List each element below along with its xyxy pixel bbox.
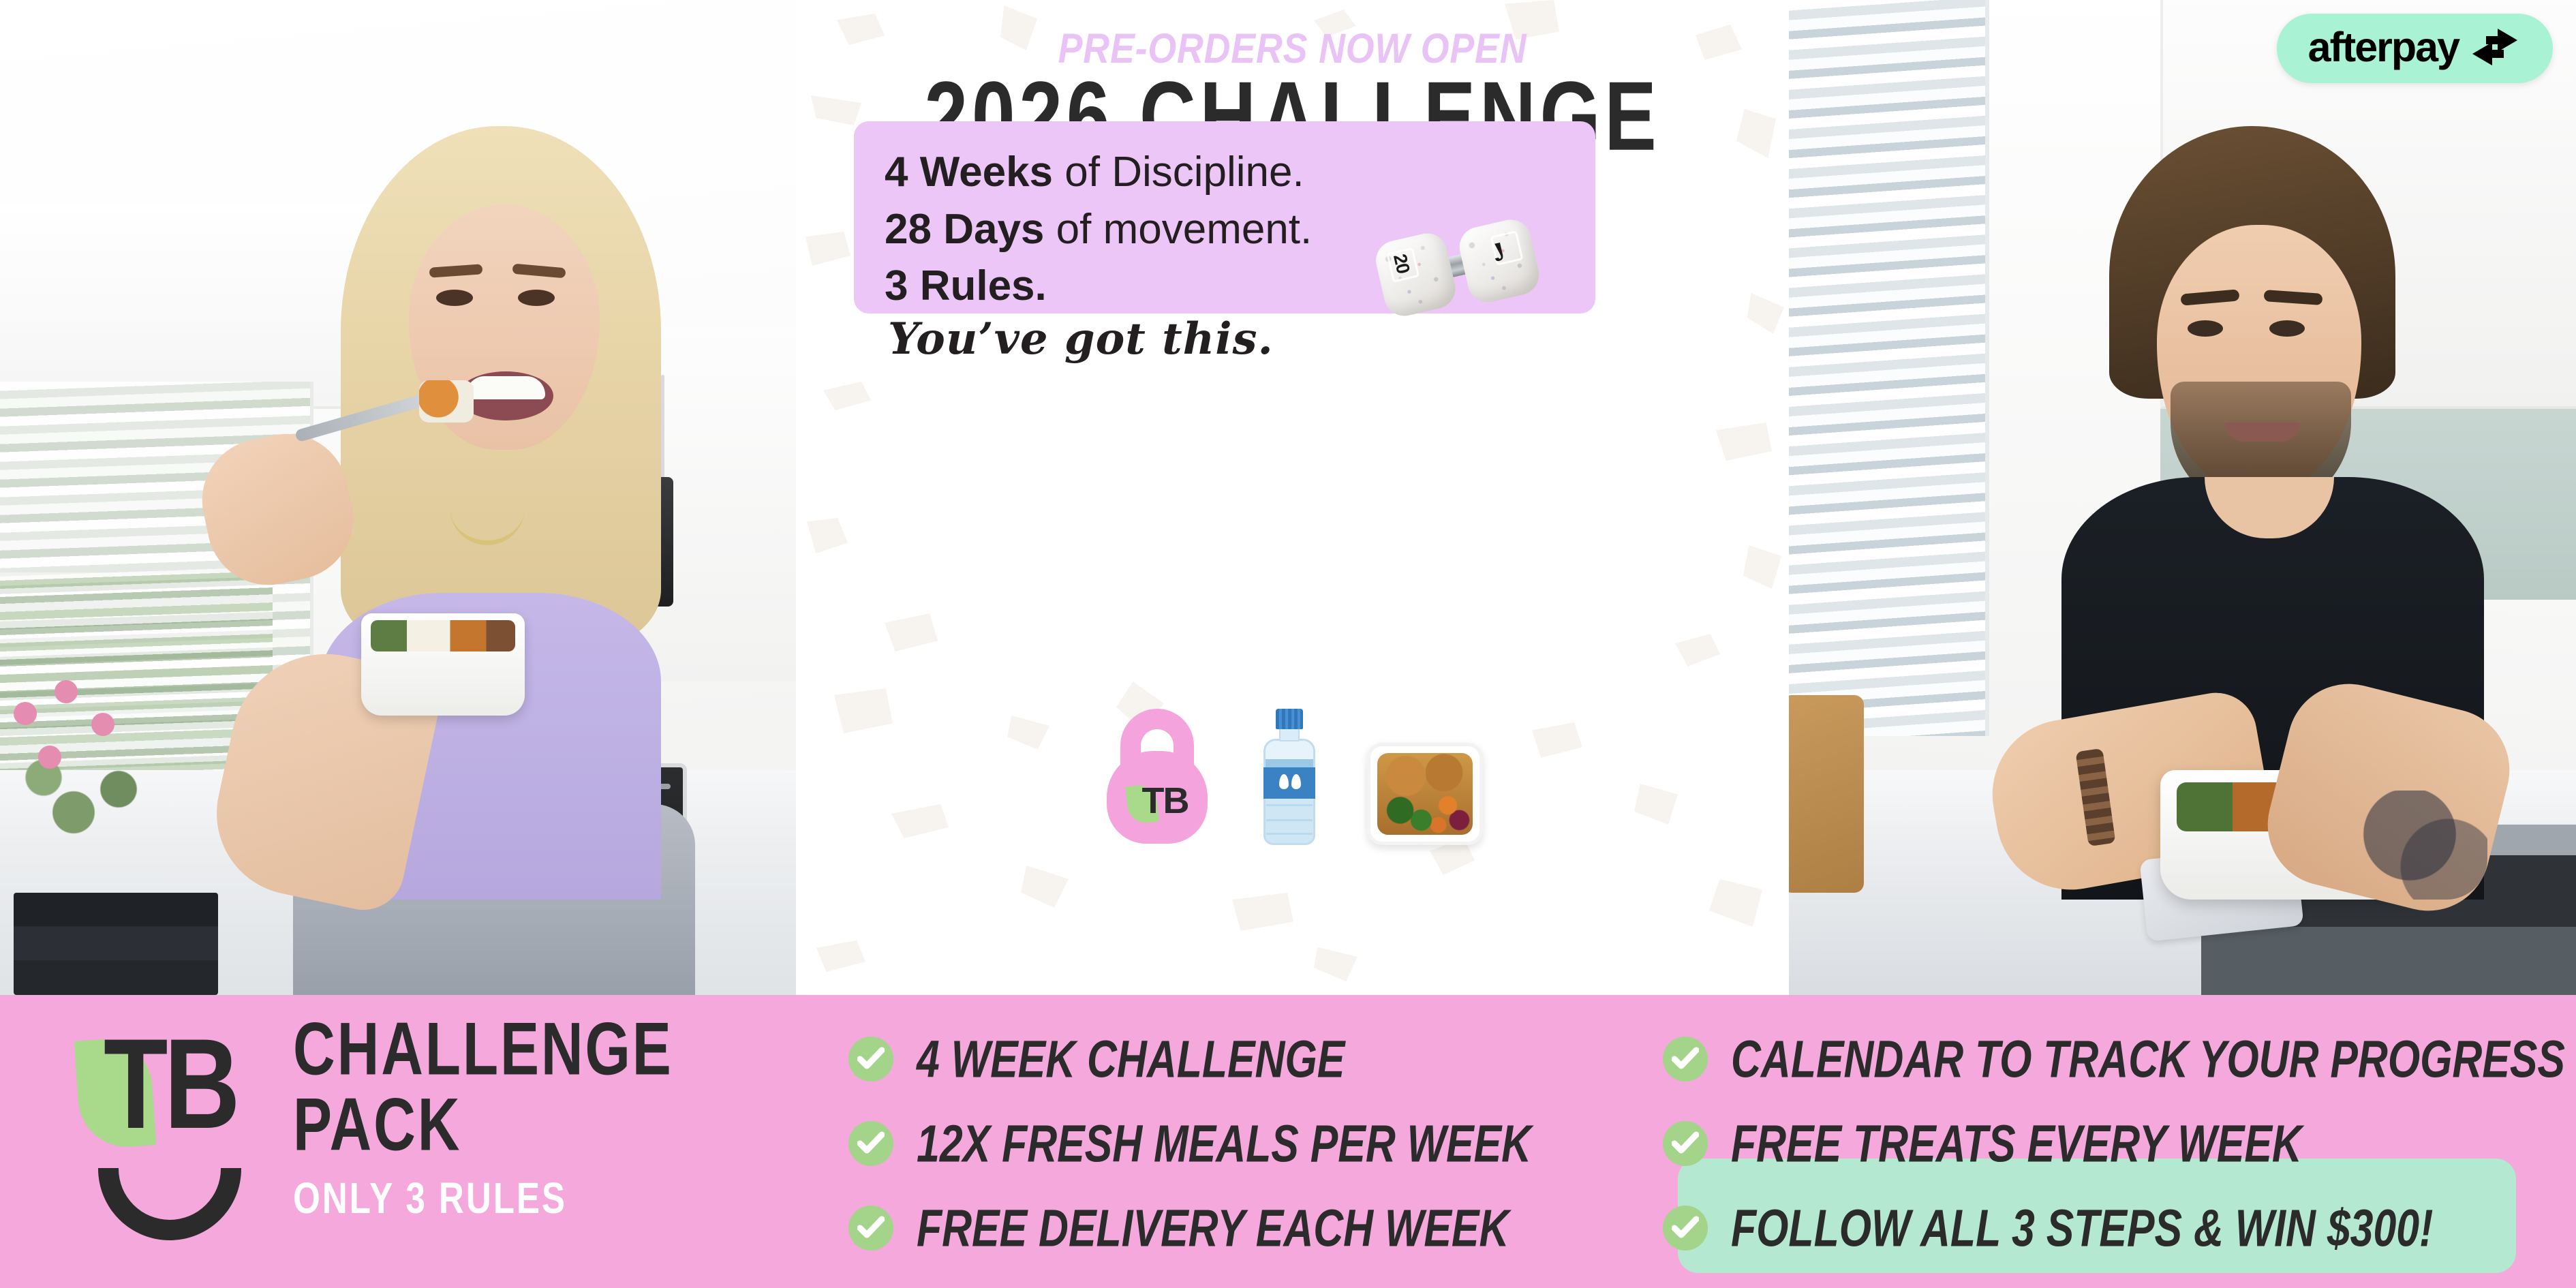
kettlebell-cell: TB: [1103, 709, 1212, 845]
photo-right: [1789, 0, 2576, 995]
person-left-eye: [436, 290, 473, 306]
person-right-eye: [2188, 320, 2223, 337]
meal-container-left: [361, 613, 525, 716]
meal-food: [1377, 753, 1473, 835]
water-drop-icon: [1279, 774, 1289, 789]
bottle-neck: [1279, 728, 1300, 741]
brand-lockup: TB CHALLENGE PACK ONLY 3 RULES: [68, 1013, 791, 1272]
check-icon: [848, 1037, 893, 1082]
check-icon: [1663, 1037, 1708, 1082]
kettlebell-icon: TB: [1103, 709, 1212, 845]
check-icon: [848, 1206, 893, 1251]
pack-title-group: CHALLENGE PACK ONLY 3 RULES: [293, 1015, 693, 1216]
person-right-mouth: [2225, 423, 2300, 442]
checklist-label: 12X FRESH MEALS PER WEEK: [917, 1114, 1531, 1174]
tattoo: [2358, 791, 2487, 900]
checklist-item: FREE DELIVERY EACH WEEK: [848, 1186, 1612, 1270]
checklist-item: 4 WEEK CHALLENGE: [848, 1017, 1612, 1101]
meal-container-icon: [1367, 743, 1483, 845]
top-region: PRE-ORDERS NOW OPEN 2026 CHALLENGE 4 Wee…: [0, 0, 2576, 995]
product-icons-row: TB: [796, 695, 1789, 845]
afterpay-label: afterpay: [2308, 27, 2459, 68]
bottle-cap: [1276, 709, 1303, 729]
smile-icon: [98, 1168, 241, 1240]
checklist-label: 4 WEEK CHALLENGE: [917, 1029, 1345, 1090]
pack-subtitle: ONLY 3 RULES: [293, 1174, 673, 1223]
necklace: [450, 470, 525, 545]
check-icon: [1663, 1206, 1708, 1251]
person-left-eye: [518, 290, 555, 306]
bottle-rib: [1266, 833, 1313, 835]
checklist-label: CALENDAR TO TRACK YOUR PROGRESS: [1731, 1029, 2565, 1090]
pack-title-line2: PACK: [293, 1091, 673, 1160]
rule-emphasis: 28 Days: [885, 206, 1044, 253]
rule-rest: of Discipline.: [1053, 149, 1304, 196]
pack-title-line1: CHALLENGE: [293, 1015, 673, 1084]
bottle-cell: [1261, 709, 1318, 845]
encouragement-text: You’ve got this.: [888, 313, 1274, 365]
checklist-label: FREE DELIVERY EACH WEEK: [917, 1198, 1509, 1259]
chopping-board: [1789, 695, 1864, 893]
water-drop-icon: [1291, 774, 1301, 789]
photo-left: [0, 0, 796, 995]
person-left-teeth: [466, 376, 545, 399]
tb-logo-mark: TB: [68, 1019, 293, 1251]
rule-emphasis: 3 Rules.: [885, 262, 1047, 309]
rule-emphasis: 4 Weeks: [885, 149, 1053, 196]
meal-tray: [1367, 743, 1483, 845]
checklist-column-left: 4 WEEK CHALLENGE 12X FRESH MEALS PER WEE…: [848, 1017, 1612, 1270]
rule-line: 4 Weeks of Discipline.: [885, 147, 1566, 198]
center-panel: PRE-ORDERS NOW OPEN 2026 CHALLENGE 4 Wee…: [796, 0, 1789, 995]
promo-banner: PRE-ORDERS NOW OPEN 2026 CHALLENGE 4 Wee…: [0, 0, 2576, 1288]
bottle-rib: [1266, 819, 1313, 821]
check-icon: [848, 1121, 893, 1166]
meal-cell: [1367, 743, 1483, 845]
afterpay-badge[interactable]: afterpay: [2277, 14, 2553, 83]
rule-rest: of movement.: [1044, 206, 1312, 253]
tb-logo-letters: TB: [104, 1019, 236, 1148]
bottle-rib: [1266, 804, 1313, 806]
checklist-item: CALENDAR TO TRACK YOUR PROGRESS: [1663, 1017, 2549, 1101]
checklist-label: FREE TREATS EVERY WEEK: [1731, 1114, 2302, 1174]
flowers-left: [7, 675, 177, 852]
checklist-column-right: CALENDAR TO TRACK YOUR PROGRESS FREE TRE…: [1663, 1017, 2549, 1270]
check-icon: [1663, 1121, 1708, 1166]
footer-bar: TB CHALLENGE PACK ONLY 3 RULES 4 WEEK CH…: [0, 995, 2576, 1288]
kettlebell-brand-label: TB: [1142, 780, 1189, 822]
books-left: [14, 893, 218, 995]
afterpay-arrows-icon: [2466, 26, 2524, 68]
food-bite: [419, 380, 474, 423]
window-right: [1789, 0, 1989, 736]
person-right-eye: [2269, 320, 2305, 337]
checklist-item: 12X FRESH MEALS PER WEEK: [848, 1101, 1612, 1186]
checklist-item-highlighted: FOLLOW ALL 3 STEPS & WIN $300!: [1663, 1186, 2549, 1270]
checklist-label: FOLLOW ALL 3 STEPS & WIN $300!: [1731, 1198, 2433, 1259]
bottle-label: [1263, 767, 1315, 799]
water-bottle-icon: [1261, 709, 1318, 845]
